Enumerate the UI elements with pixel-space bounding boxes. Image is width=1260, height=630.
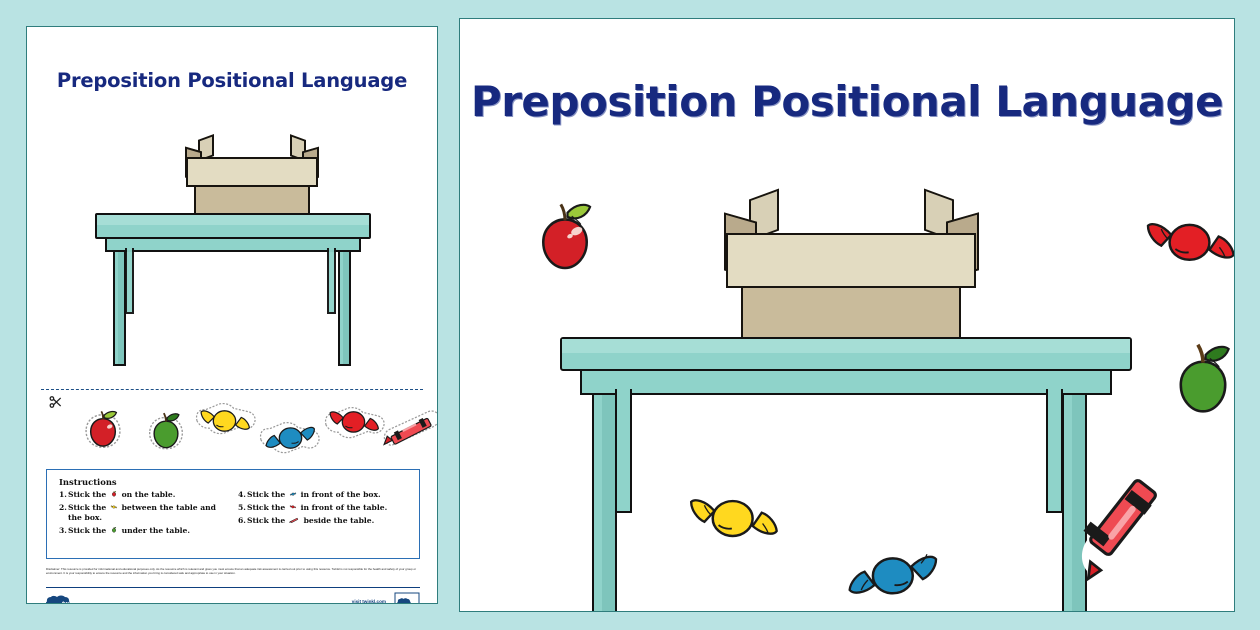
instruction-text-after: in front of the box. <box>301 490 381 499</box>
instruction-text-after: beside the table. <box>304 516 375 525</box>
instruction-text-after: on the table. <box>122 490 176 499</box>
instructions-column-left: 1. Stick the on the table. 2. Stick the <box>59 490 230 539</box>
instruction-item: 5. Stick the in front of the table. <box>238 503 409 513</box>
green-apple-cutout[interactable] <box>139 405 193 459</box>
table-leg-back-left <box>615 389 632 513</box>
instruction-text-after: in front of the table. <box>301 503 388 512</box>
instruction-number: 5. <box>238 503 247 513</box>
blue-candy-cutout[interactable] <box>257 413 323 461</box>
blue-candy-sticker[interactable] <box>838 539 946 611</box>
instruction-number: 1. <box>59 490 68 500</box>
instructions-heading: Instructions <box>59 477 409 487</box>
red-candy-sticker[interactable] <box>1138 209 1235 279</box>
green-apple-sticker[interactable] <box>1160 331 1235 425</box>
red-crayon-sticker[interactable] <box>1078 469 1166 585</box>
instruction-text-before: Stick the <box>68 490 109 499</box>
instruction-item: 4. Stick the in front of the box. <box>238 490 409 500</box>
instruction-item: 2. Stick the between the table and the b… <box>59 503 230 522</box>
box-front-flap <box>726 233 976 288</box>
disclaimer-text: Disclaimer: This resource is provided fo… <box>46 567 420 576</box>
table-leg-front-right <box>338 252 351 366</box>
svg-text:twinkl: twinkl <box>62 601 81 605</box>
cardboard-box-illustration <box>186 135 318 221</box>
instruction-text-before: Stick the <box>247 503 288 512</box>
instruction-item: 3. Stick the under the table. <box>59 526 230 536</box>
instruction-number: 4. <box>238 490 247 500</box>
yellow-candy-sticker[interactable] <box>682 485 790 557</box>
table-leg-back-right <box>327 248 336 314</box>
instruction-text-after: under the table. <box>122 526 190 535</box>
footer-divider <box>46 587 420 588</box>
instruction-number: 6. <box>238 516 247 526</box>
table-apron <box>580 371 1112 395</box>
instruction-text-before: Stick the <box>247 490 288 499</box>
instruction-text-before: Stick the <box>247 516 288 525</box>
table-leg-back-right <box>1046 389 1063 513</box>
table-leg-back-left <box>125 248 134 314</box>
red-crayon-cutout[interactable] <box>381 405 438 453</box>
thumbnail-page-title: Preposition Positional Language <box>27 69 437 92</box>
cut-line-divider <box>41 389 423 390</box>
yellow-candy-cutout[interactable] <box>193 397 259 445</box>
table-leg-shade <box>602 395 615 611</box>
table-leg-front-left <box>592 395 617 612</box>
table-illustration <box>95 213 371 373</box>
instruction-text-before: Stick the <box>68 503 109 512</box>
scissors-icon <box>49 395 63 409</box>
instruction-number: 3. <box>59 526 68 536</box>
table-leg-shade <box>343 252 349 364</box>
instructions-panel: Instructions 1. Stick the on the table. … <box>46 469 420 559</box>
table-top-highlight <box>97 215 369 225</box>
page-footer: twinkl visit twinkl.com <box>46 592 420 604</box>
red-crayon-icon <box>289 516 300 524</box>
visit-twinkl-link[interactable]: visit twinkl.com <box>352 599 386 604</box>
red-apple-icon <box>110 490 118 498</box>
box-front-flap <box>186 157 318 186</box>
instruction-text-before: Stick the <box>68 526 109 535</box>
cardboard-box-illustration <box>726 191 976 353</box>
instructions-column-right: 4. Stick the in front of the box. 5. Sti… <box>238 490 409 539</box>
twinkl-logo[interactable]: twinkl <box>46 594 96 604</box>
red-candy-icon <box>289 503 297 511</box>
green-apple-icon <box>110 526 118 534</box>
red-apple-sticker[interactable] <box>523 191 607 283</box>
instruction-item: 1. Stick the on the table. <box>59 490 230 500</box>
table-leg-shade <box>118 252 124 364</box>
table-top-highlight <box>562 339 1130 353</box>
red-candy-cutout[interactable] <box>322 399 388 447</box>
instruction-item: 6. Stick the beside the table. <box>238 516 409 526</box>
table-top-surface <box>560 337 1132 371</box>
main-page-title: Preposition Positional Language <box>460 77 1234 126</box>
thumbnail-page-preview[interactable]: Preposition Positional Language <box>26 26 438 604</box>
table-top-surface <box>95 213 371 239</box>
instruction-number: 2. <box>59 503 68 522</box>
red-apple-cutout[interactable] <box>75 403 131 459</box>
main-resource-page[interactable]: Preposition Positional Language <box>459 18 1235 612</box>
blue-candy-icon <box>289 490 297 498</box>
twinkl-badge-icon <box>394 592 420 604</box>
table-apron <box>105 239 361 252</box>
yellow-candy-icon <box>110 503 118 511</box>
